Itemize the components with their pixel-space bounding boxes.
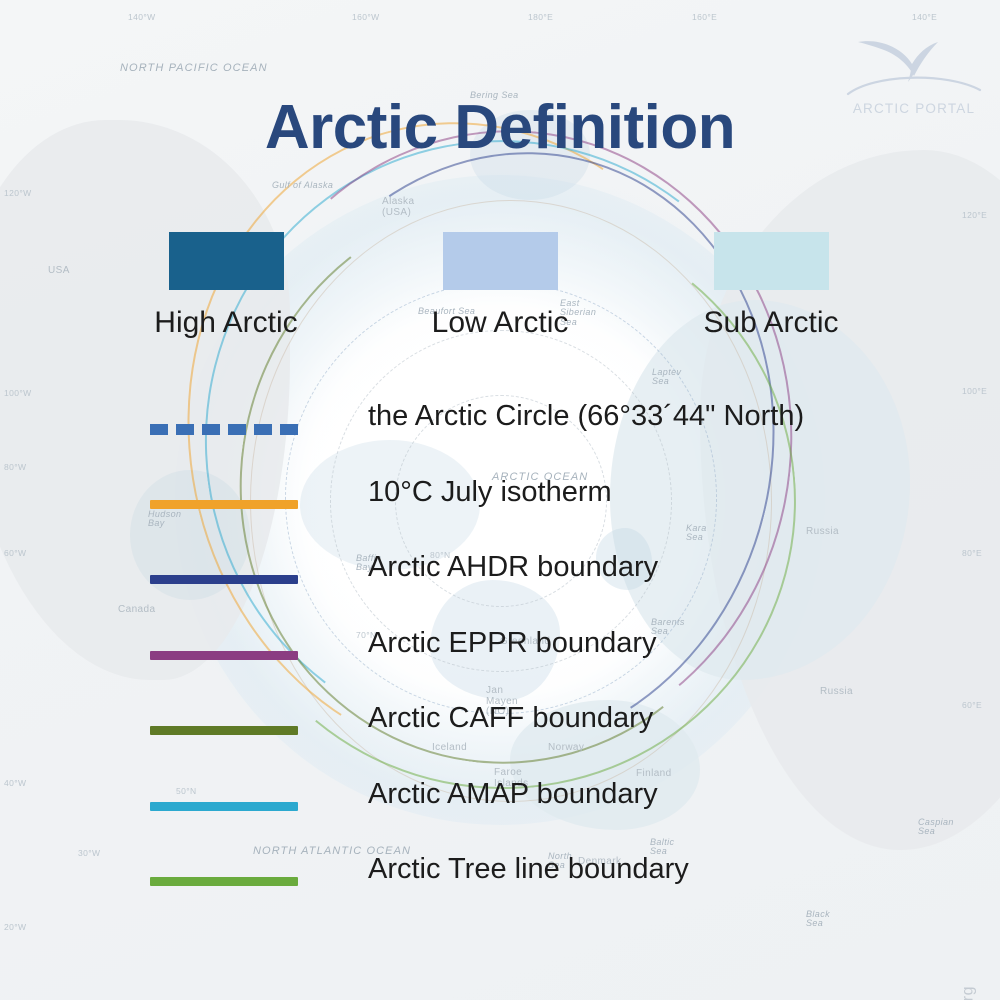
line-swatch-arctic-circle xyxy=(150,424,298,435)
map-label-ocean: NORTH PACIFIC OCEAN xyxy=(120,62,268,74)
zone-label-sub-arctic: Sub Arctic xyxy=(621,306,921,340)
line-swatch-eppr xyxy=(150,651,298,660)
line-swatch-july-isotherm xyxy=(150,500,298,509)
map-label-graticule: 30°W xyxy=(78,848,100,858)
boundary-label-eppr: Arctic EPPR boundary xyxy=(368,627,657,660)
line-swatch-ahdr xyxy=(150,575,298,584)
map-label-sea: Gulf of Alaska xyxy=(272,180,333,190)
zone-legend-item-high-arctic: High Arctic xyxy=(76,232,376,340)
map-label-graticule: 160°W xyxy=(352,12,380,22)
map-label-graticule: 140°E xyxy=(912,12,937,22)
map-label-place: Alaska (USA) xyxy=(382,196,424,218)
boundary-label-july-isotherm: 10°C July isotherm xyxy=(368,476,612,509)
zone-swatch-high-arctic xyxy=(169,232,284,290)
map-label-graticule: 100°W xyxy=(4,388,32,398)
boundary-legend-row-eppr: Arctic EPPR boundary xyxy=(150,627,970,703)
boundary-legend-row-caff: Arctic CAFF boundary xyxy=(150,702,970,778)
line-swatch-amap xyxy=(150,802,298,811)
copyright-watermark: ©ArcticPortal.org xyxy=(960,986,978,1000)
boundary-label-tree-line: Arctic Tree line boundary xyxy=(368,853,689,886)
map-label-graticule: 80°W xyxy=(4,462,26,472)
map-label-graticule: 20°W xyxy=(4,922,26,932)
map-label-graticule: 160°E xyxy=(692,12,717,22)
boundary-label-amap: Arctic AMAP boundary xyxy=(368,778,658,811)
map-label-graticule: 60°W xyxy=(4,548,26,558)
page-title: Arctic Definition xyxy=(0,92,1000,163)
zone-legend: High Arctic Low Arctic Sub Arctic xyxy=(0,232,1000,352)
boundary-legend-row-ahdr: Arctic AHDR boundary xyxy=(150,551,970,627)
boundary-label-ahdr: Arctic AHDR boundary xyxy=(368,551,658,584)
boundary-legend: the Arctic Circle (66°33´44" North) 10°C… xyxy=(150,400,970,929)
map-label-graticule: 100°E xyxy=(962,386,987,396)
zone-legend-item-low-arctic: Low Arctic xyxy=(350,232,650,340)
map-label-graticule: 140°W xyxy=(128,12,156,22)
boundary-legend-row-amap: Arctic AMAP boundary xyxy=(150,778,970,854)
line-swatch-caff xyxy=(150,726,298,735)
line-swatch-tree-line xyxy=(150,877,298,886)
zone-swatch-sub-arctic xyxy=(714,232,829,290)
tern-bird-icon xyxy=(840,24,988,102)
boundary-legend-row-tree-line: Arctic Tree line boundary xyxy=(150,853,970,929)
infographic-page: NORTH PACIFIC OCEAN ARCTIC OCEAN NORTH A… xyxy=(0,0,1000,1000)
boundary-label-caff: Arctic CAFF boundary xyxy=(368,702,653,735)
zone-label-high-arctic: High Arctic xyxy=(76,306,376,340)
map-label-graticule: 40°W xyxy=(4,778,26,788)
boundary-legend-row-arctic-circle: the Arctic Circle (66°33´44" North) xyxy=(150,400,970,476)
map-label-graticule: 120°E xyxy=(962,210,987,220)
map-label-sea: Laptev Sea xyxy=(652,368,690,387)
boundary-label-arctic-circle: the Arctic Circle (66°33´44" North) xyxy=(368,400,804,433)
boundary-legend-row-july-isotherm: 10°C July isotherm xyxy=(150,476,970,552)
zone-label-low-arctic: Low Arctic xyxy=(350,306,650,340)
zone-swatch-low-arctic xyxy=(443,232,558,290)
map-label-graticule: 120°W xyxy=(4,188,32,198)
map-label-graticule: 180°E xyxy=(528,12,553,22)
zone-legend-item-sub-arctic: Sub Arctic xyxy=(621,232,921,340)
